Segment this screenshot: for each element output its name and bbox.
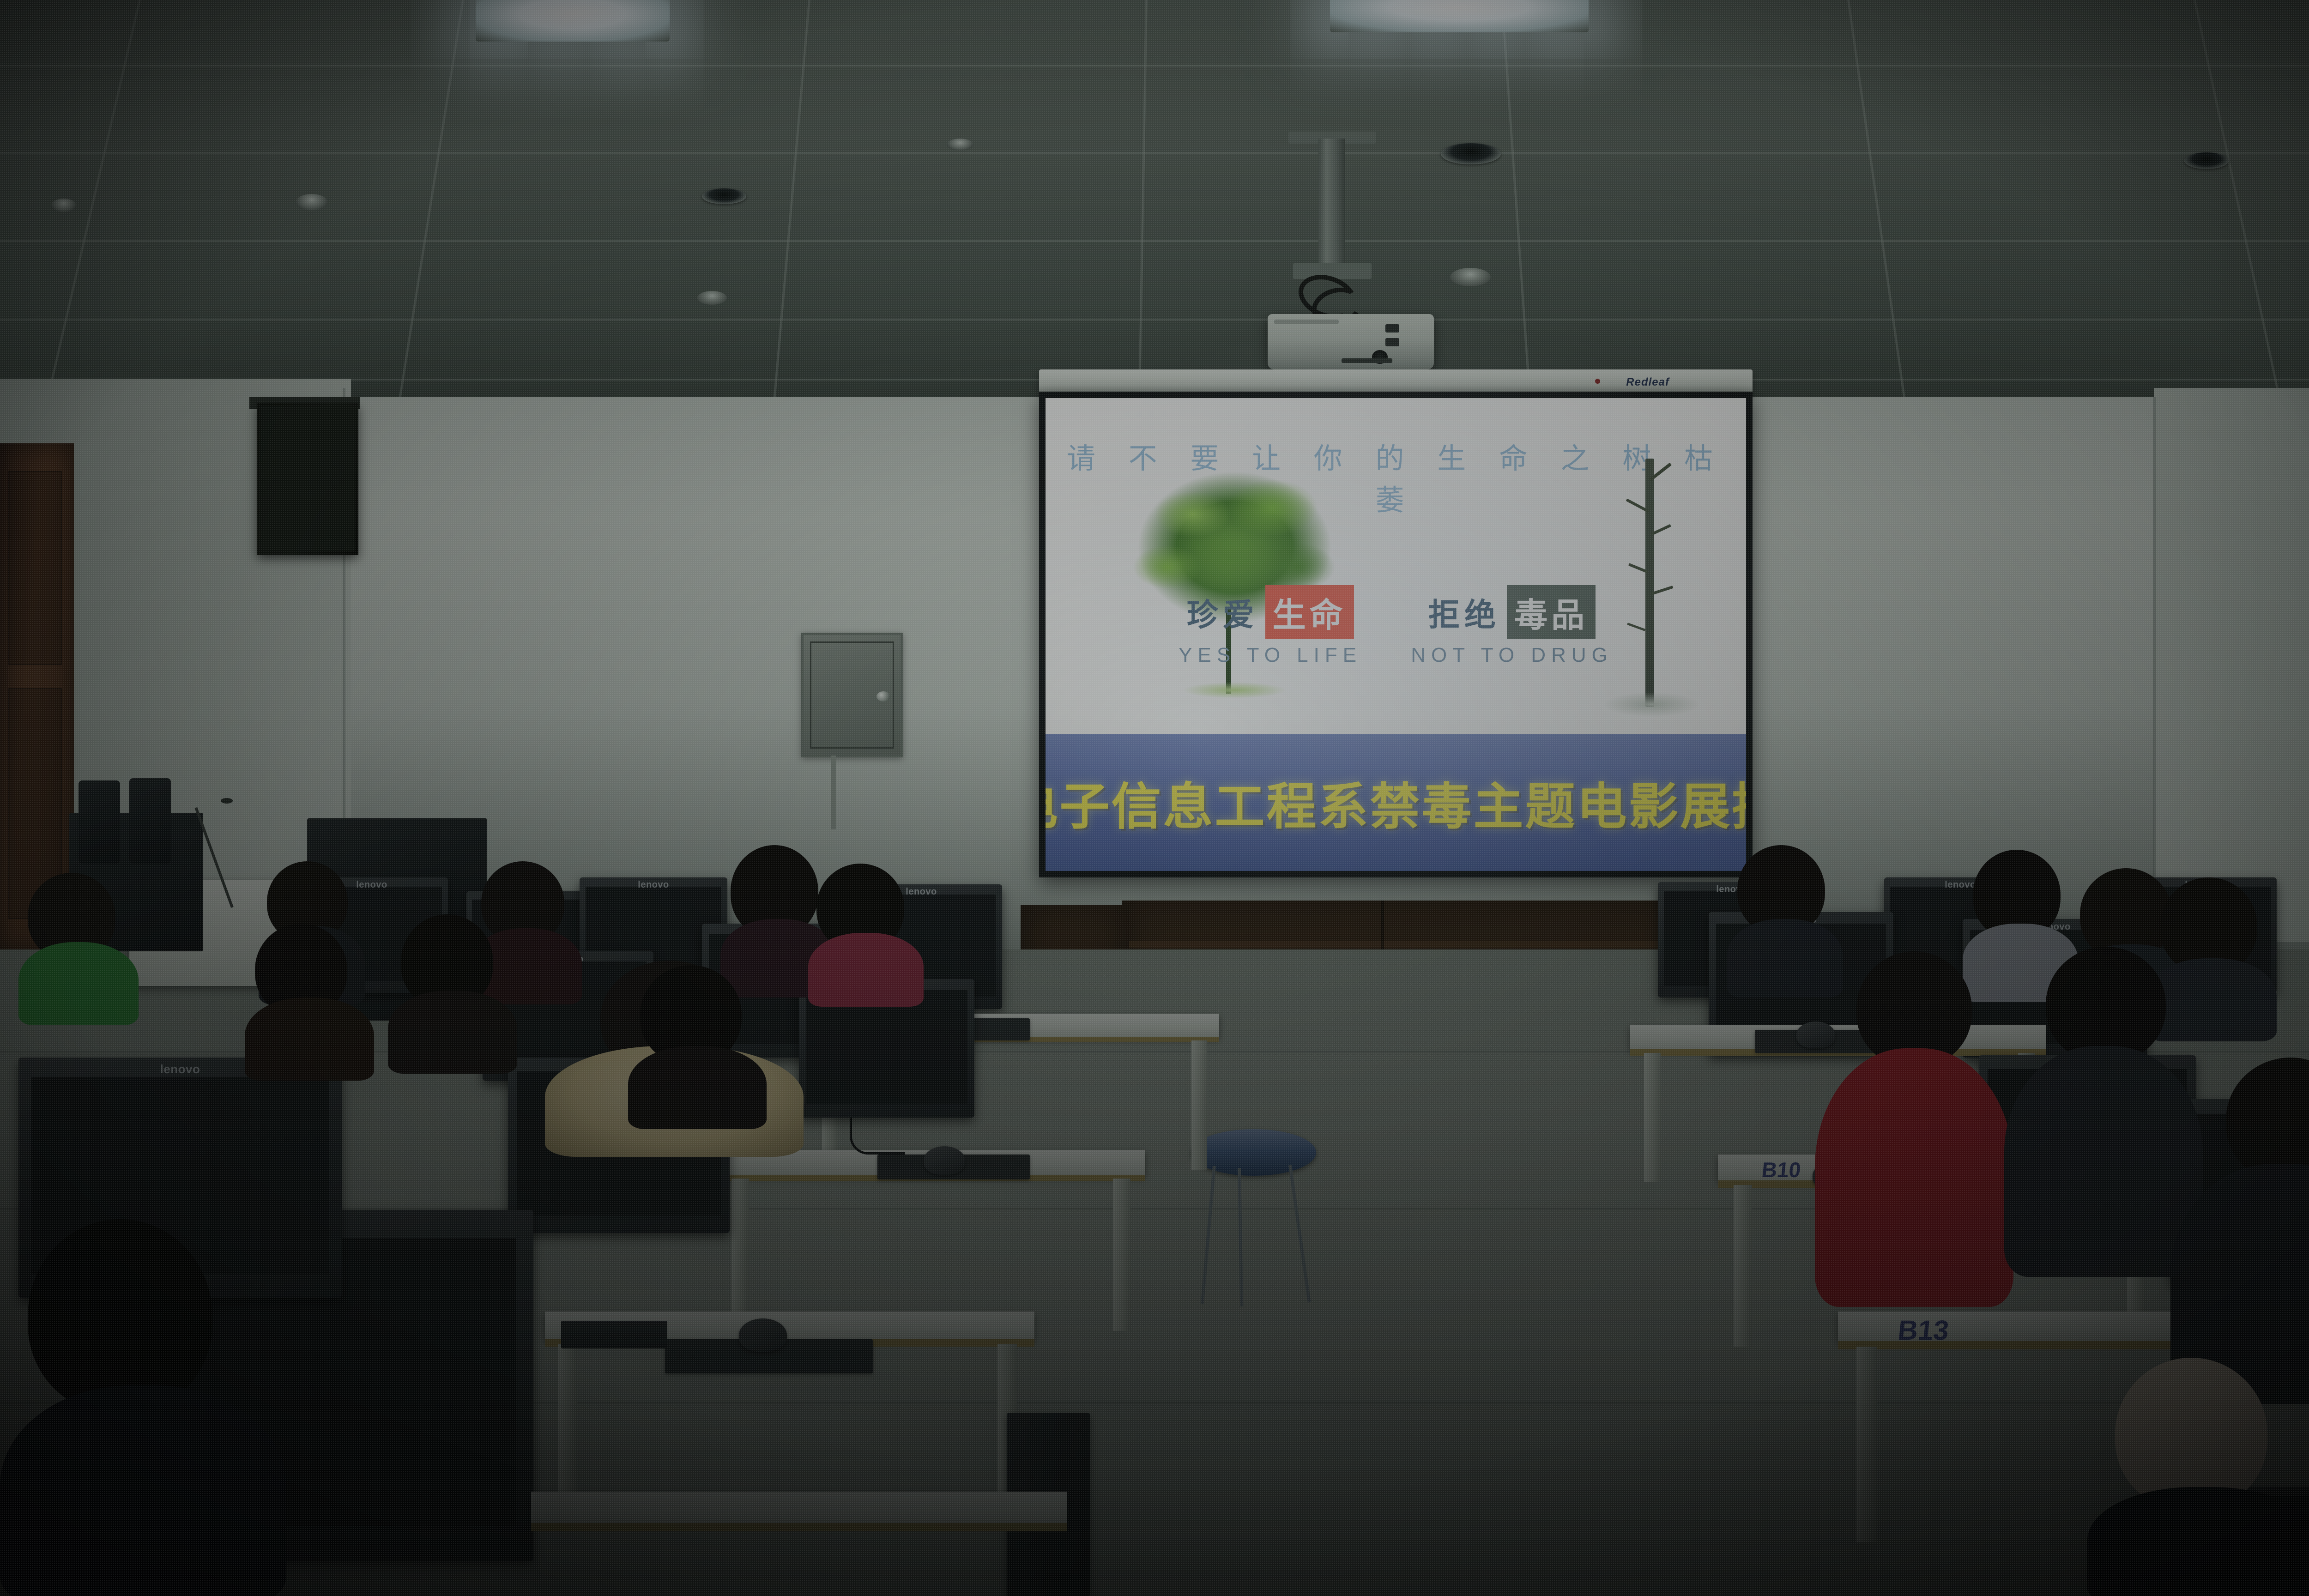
dead-tree-illustration bbox=[1620, 459, 1683, 707]
dead-tree-trunk bbox=[1645, 459, 1654, 707]
recessed-downlight-icon bbox=[702, 188, 746, 204]
stool-leg bbox=[1201, 1166, 1216, 1304]
student bbox=[2170, 1058, 2309, 1399]
slogan-row: 珍爱 生命 YES TO LIFE 拒绝 毒品 NOT TO D bbox=[1046, 585, 1746, 667]
slogan-not-to-drug: 拒绝 毒品 NOT TO DRUG bbox=[1411, 585, 1613, 667]
projector-vent bbox=[1385, 324, 1399, 332]
screen-black-border: 请 不 要 让 你 的 生 命 之 树 枯 萎 bbox=[1039, 392, 1753, 877]
computer-mouse[interactable] bbox=[924, 1146, 965, 1175]
wall-access-panel[interactable] bbox=[801, 633, 903, 757]
speaker-grille bbox=[260, 406, 355, 551]
tree-ground-shadow bbox=[1184, 682, 1285, 698]
projection-screen: Redleaf 请 不 要 让 你 的 生 命 之 树 枯 萎 bbox=[1039, 369, 1753, 877]
projected-slide: 请 不 要 让 你 的 生 命 之 树 枯 萎 bbox=[1046, 398, 1746, 871]
student-foreground-right bbox=[2087, 1358, 2309, 1596]
monitor-brand-label: lenovo bbox=[638, 880, 669, 890]
projector-vent bbox=[1385, 338, 1399, 346]
microphone-head-icon bbox=[221, 798, 233, 804]
access-panel-latch-icon[interactable] bbox=[876, 691, 890, 701]
student-desk[interactable] bbox=[531, 1492, 1067, 1596]
recessed-downlight-icon bbox=[2184, 152, 2229, 169]
ceiling-panel-light bbox=[1330, 0, 1589, 32]
slogan-right-boxed: 毒品 bbox=[1507, 585, 1596, 639]
projector-pole-mount bbox=[1318, 139, 1345, 272]
ceiling bbox=[0, 0, 2309, 416]
slide-title-banner: 电子信息工程系禁毒主题电影展播 bbox=[1046, 734, 1746, 871]
student bbox=[628, 965, 767, 1122]
screen-surface: 请 不 要 让 你 的 生 命 之 树 枯 萎 bbox=[1046, 398, 1746, 871]
stool-leg bbox=[1238, 1168, 1243, 1306]
student bbox=[388, 914, 517, 1071]
ceiling-panel-light bbox=[476, 0, 670, 42]
recessed-downlight-icon bbox=[1441, 143, 1501, 164]
slogan-right-prefix: 拒绝 bbox=[1428, 589, 1500, 635]
podium-speaker-left bbox=[79, 780, 120, 864]
desk-label: B13 bbox=[1896, 1314, 1950, 1346]
student bbox=[18, 873, 139, 1021]
computer-mouse[interactable] bbox=[739, 1318, 787, 1352]
slogan-yes-to-life: 珍爱 生命 YES TO LIFE bbox=[1179, 585, 1362, 667]
student-foreground bbox=[0, 1219, 286, 1596]
slogan-left-boxed: 生命 bbox=[1265, 585, 1354, 639]
slogan-left-prefix: 珍爱 bbox=[1187, 589, 1259, 635]
wall-conduit bbox=[831, 756, 836, 829]
ceiling-projector bbox=[1268, 314, 1434, 369]
dead-tree-shadow bbox=[1604, 692, 1699, 717]
slide-upper-area: 请 不 要 让 你 的 生 命 之 树 枯 萎 bbox=[1046, 398, 1746, 734]
podium-speaker-right bbox=[129, 778, 171, 864]
sprinkler-head-icon bbox=[697, 291, 727, 305]
stool-leg bbox=[1288, 1165, 1311, 1303]
slogan-left-english: YES TO LIFE bbox=[1179, 644, 1362, 667]
student-red-jacket bbox=[1815, 951, 2013, 1302]
sprinkler-head-icon bbox=[1450, 268, 1491, 286]
screen-brand-label: Redleaf bbox=[1626, 376, 1669, 389]
ceiling-tile-grid bbox=[0, 0, 2309, 416]
student bbox=[245, 924, 374, 1076]
smoke-detector-icon bbox=[51, 199, 77, 212]
brand-dot-icon bbox=[1595, 379, 1600, 384]
wall-speaker bbox=[257, 403, 358, 555]
smoke-detector-icon bbox=[947, 139, 973, 151]
student bbox=[808, 864, 924, 1002]
slide-banner-text: 电子信息工程系禁毒主题电影展播 bbox=[1046, 767, 1746, 839]
right-wall bbox=[2154, 388, 2309, 942]
classroom-photo: Redleaf 请 不 要 让 你 的 生 命 之 树 枯 萎 bbox=[0, 0, 2309, 1596]
monitor-brand-label: lenovo bbox=[160, 1062, 200, 1076]
desk-label: B10 bbox=[1760, 1157, 1802, 1182]
smoke-detector-icon bbox=[296, 194, 328, 211]
slogan-right-english: NOT TO DRUG bbox=[1411, 644, 1613, 667]
keyboard[interactable] bbox=[561, 1321, 667, 1348]
